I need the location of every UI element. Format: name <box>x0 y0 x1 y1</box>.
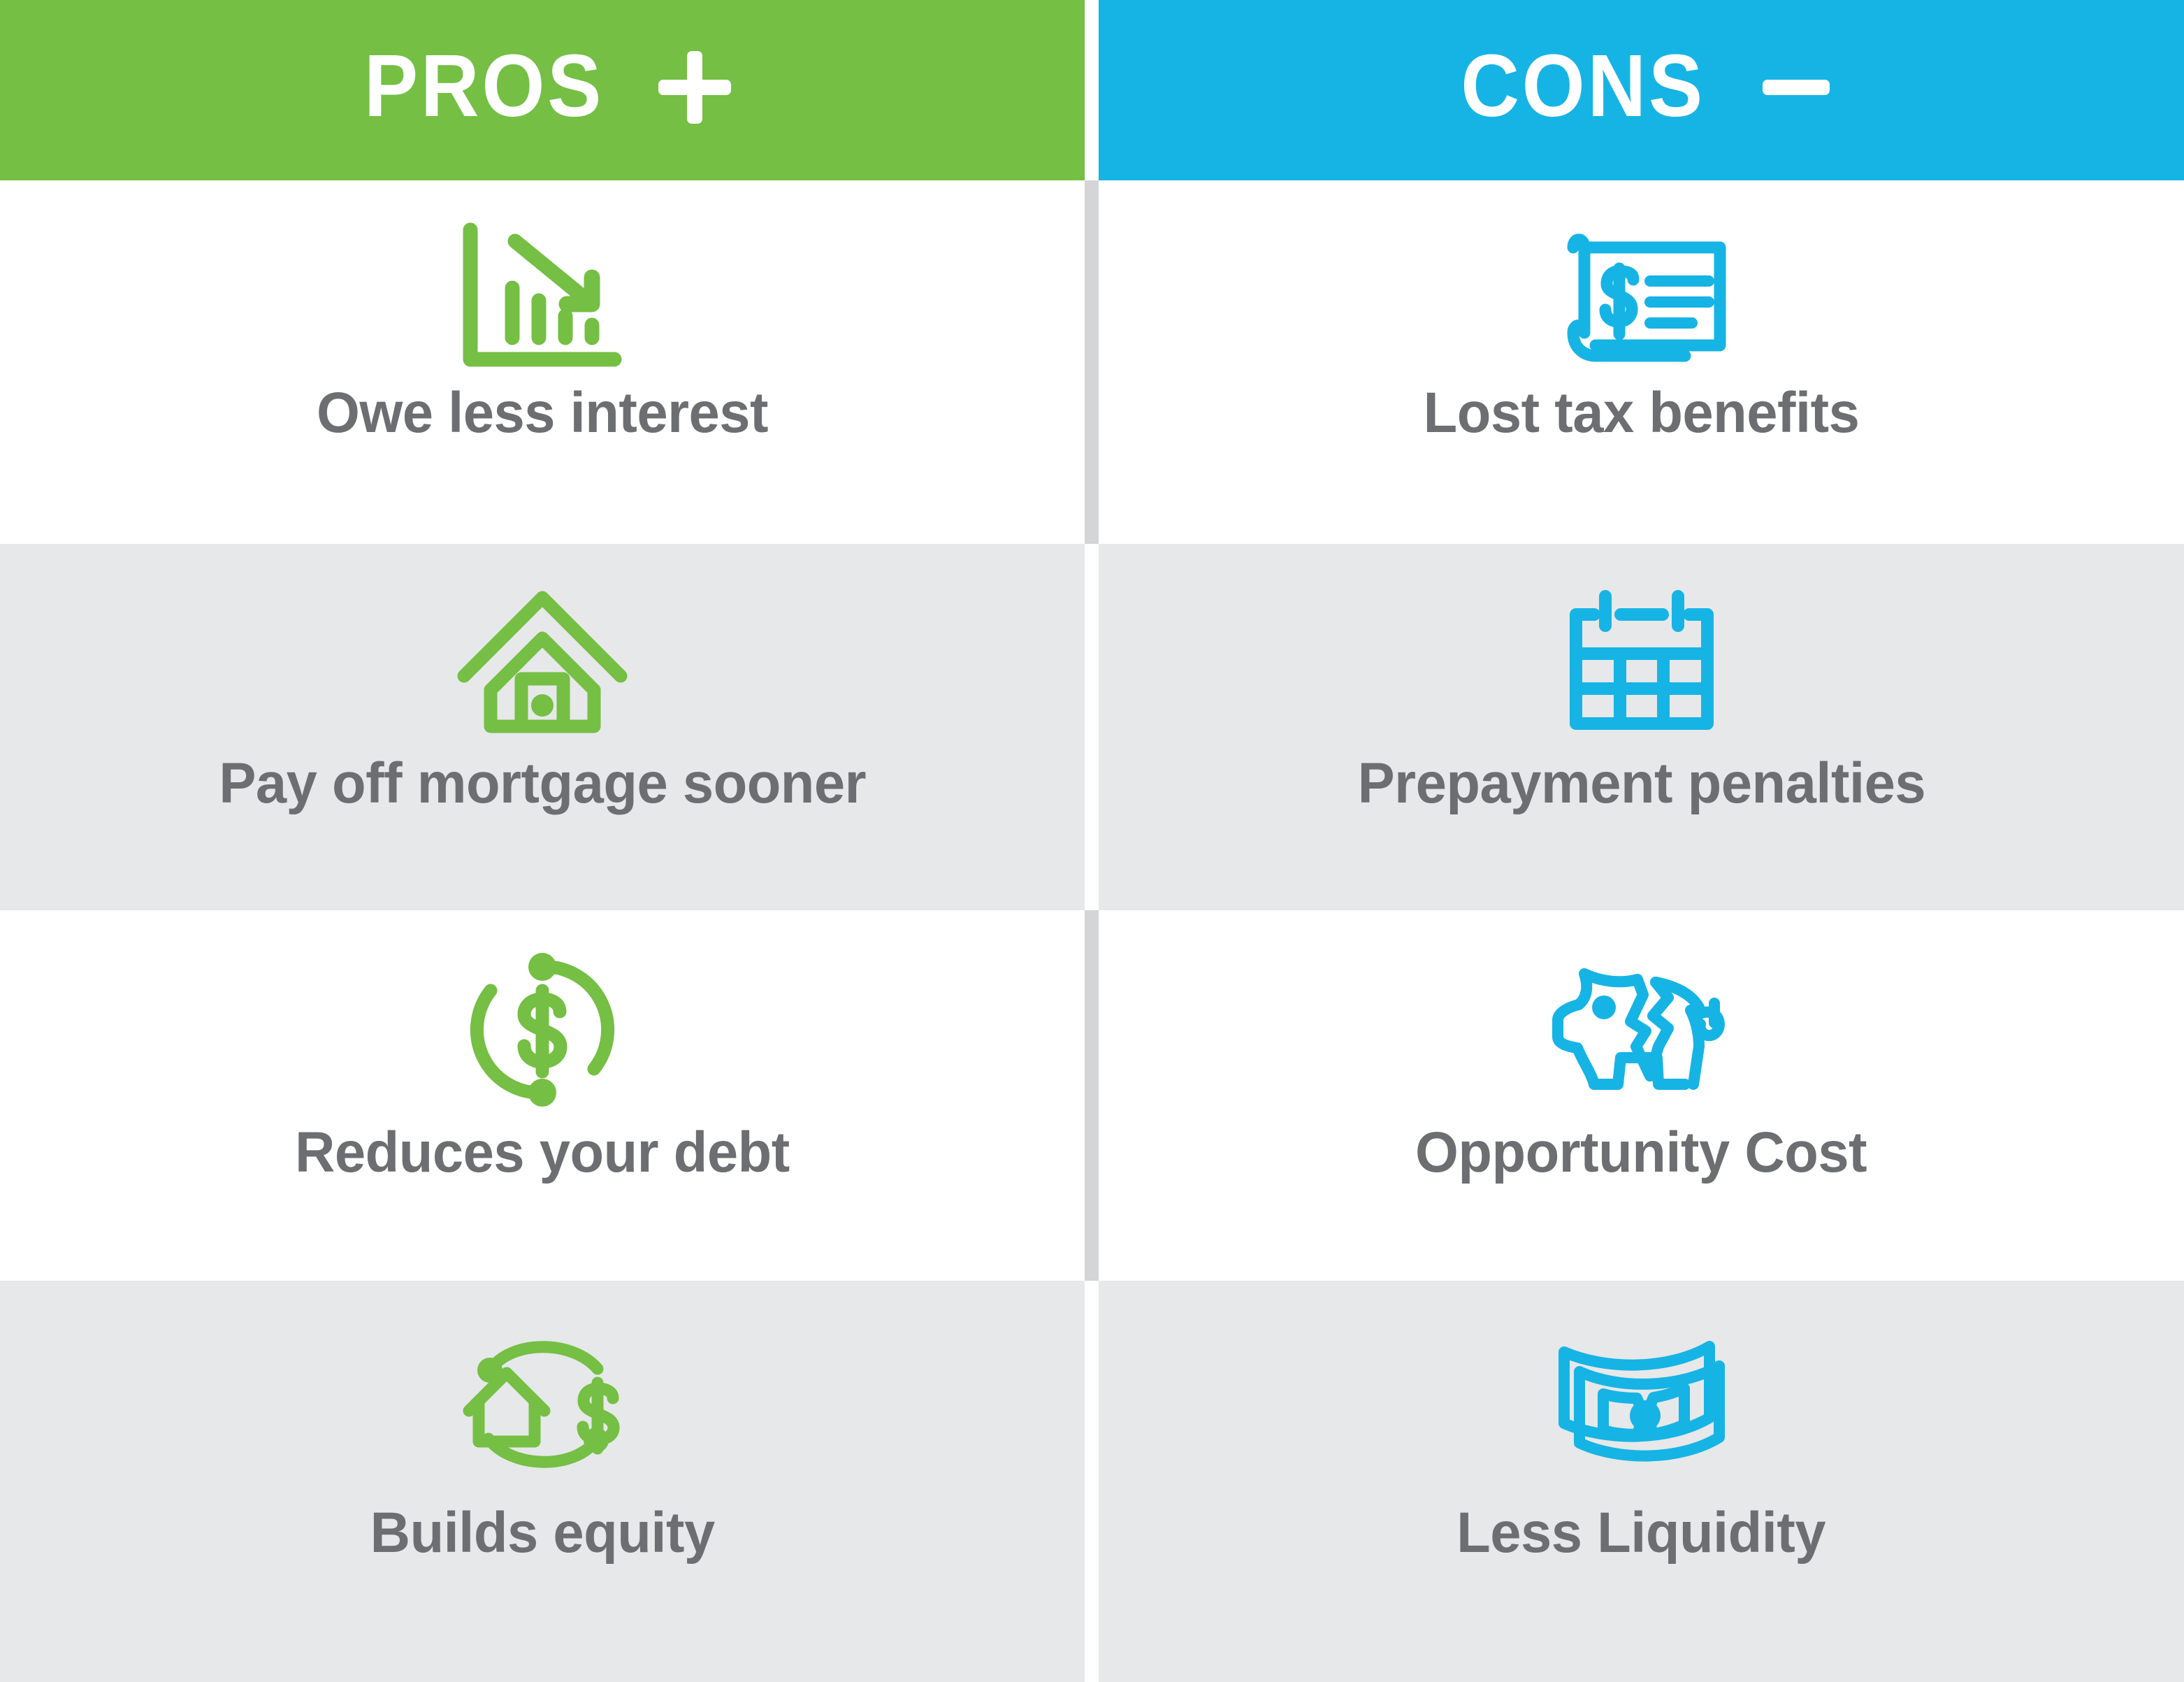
row-4-divider <box>1085 1281 1099 1682</box>
pro-item-3-label: Reduces your debt <box>295 1124 790 1181</box>
con-item-1-label: Lost tax benefits <box>1424 384 1860 442</box>
minus-sign-icon <box>1760 51 1832 124</box>
con-item-1: Lost tax benefits <box>1099 180 2184 544</box>
dollar-circle-icon <box>464 942 621 1117</box>
pro-item-4-label: Builds equity <box>370 1504 714 1562</box>
con-item-3: Opportunity Cost <box>1099 910 2184 1281</box>
header-divider-gap <box>1085 0 1099 180</box>
calendar-icon <box>1566 572 1717 747</box>
house-icon <box>457 572 628 747</box>
pros-header-label: PROS <box>364 42 604 130</box>
pro-item-2-label: Pay off mortgage sooner <box>219 755 866 812</box>
pro-item-3: Reduces your debt <box>0 910 1085 1281</box>
pros-cons-comparison-board: PROS CONS Owe less interest <box>0 0 2184 1682</box>
broken-piggy-bank-icon <box>1548 942 1735 1117</box>
pros-header: PROS <box>0 0 1085 180</box>
con-item-2-label: Prepayment penalties <box>1357 755 1925 812</box>
cash-banknote-icon <box>1554 1316 1729 1490</box>
row-1-divider <box>1085 180 1099 544</box>
plus-sign-icon <box>658 51 731 124</box>
con-item-3-label: Opportunity Cost <box>1415 1124 1867 1181</box>
row-3-divider <box>1085 910 1099 1281</box>
pro-item-1-label: Owe less interest <box>317 384 768 442</box>
cons-header: CONS <box>1099 0 2184 180</box>
house-to-dollar-exchange-icon <box>459 1316 625 1490</box>
row-2-divider <box>1085 544 1099 910</box>
pro-item-4: Builds equity <box>0 1281 1085 1682</box>
declining-bar-chart-icon <box>462 214 623 382</box>
con-item-4-label: Less Liquidity <box>1457 1504 1826 1562</box>
con-item-4: Less Liquidity <box>1099 1281 2184 1682</box>
pro-item-2: Pay off mortgage sooner <box>0 544 1085 910</box>
pro-item-1: Owe less interest <box>0 180 1085 544</box>
check-payment-icon <box>1552 214 1731 382</box>
cons-header-label: CONS <box>1461 42 1706 130</box>
con-item-2: Prepayment penalties <box>1099 544 2184 910</box>
